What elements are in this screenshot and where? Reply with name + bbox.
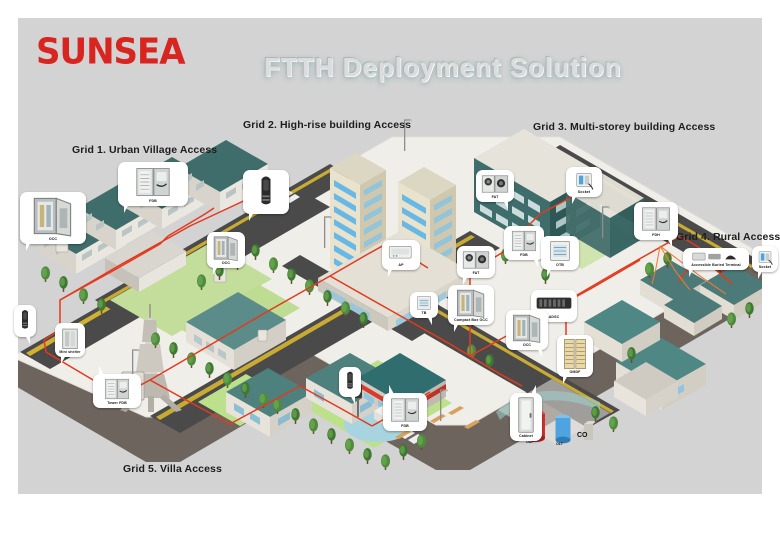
page-title: FTTH Deployment Solution [264,52,622,83]
shelter-icon [57,325,83,351]
callout-tail [662,238,672,247]
callout-mini-shelter[interactable]: Mini shelter [55,323,85,357]
frame-rack-icon [559,337,591,371]
callout-socket-multi[interactable]: Socket [566,167,602,197]
term-box-icon [543,238,577,264]
callout-tail [124,204,134,213]
site-label-co: CO [577,432,588,439]
splice-box-icon [636,204,676,234]
callout-tail [249,212,259,221]
outdoor-cabinet-icon [450,287,492,319]
callout-tail [388,268,398,277]
callout-otb-highrise[interactable]: TB [410,292,438,318]
callout-tail [563,375,573,384]
grid-label-2: Grid 2. High-rise building Access [243,119,411,131]
olt-label: OLT [556,442,563,446]
callout-fdb-urban-top[interactable]: FDB [118,162,188,206]
callout-closure-villa[interactable] [339,367,361,397]
callout-otb-multistorey[interactable]: OTB [541,236,579,270]
ap-wifi-icon [384,242,418,264]
callout-cabinet-co[interactable]: Cabinet [510,393,542,441]
logo-text: SUNSEA [36,31,185,73]
callout-label: FDB [504,254,544,258]
sunsea-logo: SUNSEA [36,31,185,73]
callout-closure-street[interactable] [14,305,36,337]
callout-label: FAT [476,196,514,200]
callout-ap-highrise[interactable]: AP [382,240,420,270]
dome-closure-icon [16,307,34,331]
outdoor-cabinet-icon [22,194,84,238]
callout-abt-rural[interactable]: Accessible Buried Terminal [683,248,749,270]
callout-socket-rural[interactable]: Socket [752,246,778,272]
callout-tail [61,355,71,364]
callout-tower-fdb[interactable]: Tower FDB [93,374,141,408]
callout-tail [213,266,223,275]
callout-tail [547,268,557,277]
callout-tail [26,242,36,251]
grid-label-5: Grid 5. Villa Access [123,463,222,475]
callout-tail [758,270,768,279]
splice-box-icon [95,376,139,402]
callout-label: FDB [383,425,427,429]
callout-tail [99,366,109,375]
callout-tail [498,200,508,209]
callout-fdh-right[interactable]: FDH [634,202,678,240]
callout-tail [572,195,582,204]
callout-fdb-villa[interactable]: FDB [383,393,427,431]
callout-tail [526,385,536,394]
buried-terminal-icon [685,250,747,264]
splitter-icon [478,172,512,196]
callout-tail [689,268,699,277]
callout-tail [454,323,464,332]
splice-box-icon [120,164,186,200]
callout-occ-mid-right[interactable]: OCC [506,310,548,350]
callout-tail [389,385,399,394]
splice-box-icon [506,228,542,254]
infographic-root: SUNSEA FTTH Deployment Solution Grid 1. … [0,0,780,534]
callout-omdf-right[interactable]: OMDF [557,335,593,377]
callout-label: Cabinet [510,435,542,439]
term-box-icon [412,294,436,312]
outdoor-cabinet-icon [508,312,546,344]
callout-tail [532,348,542,357]
callout-fat-highrise[interactable]: FAT [457,246,495,278]
socket-icon [754,248,776,266]
callout-occ-urban-left[interactable]: OCC [20,192,86,244]
callout-fat-multistorey[interactable]: FAT [476,170,514,202]
callout-tail [528,258,538,267]
socket-icon [568,169,600,191]
callout-tail [422,316,432,325]
callout-tail [463,276,473,285]
grid-label-4: Grid 4. Rural Access [676,231,780,243]
indoor-cabinet-icon [512,395,540,435]
dome-closure-icon [245,172,287,208]
outdoor-cabinet-icon [209,234,243,262]
callout-label: Tower FDB [93,402,141,406]
callout-tail [20,335,30,344]
grid-label-3: Grid 3. Multi-storey building Access [533,121,715,133]
dome-closure-icon [341,369,359,391]
callout-fdb-multistorey[interactable]: FDB [504,226,544,260]
callout-closure-urban[interactable] [243,170,289,214]
callout-compactbox-occ[interactable]: Compact Box OCC [448,285,494,325]
callout-occ-urban-right[interactable]: OCC [207,232,245,268]
grid-label-1: Grid 1. Urban Village Access [72,144,217,156]
splice-box-icon [385,395,425,425]
splitter-icon [459,248,493,272]
callout-tail [345,395,355,404]
